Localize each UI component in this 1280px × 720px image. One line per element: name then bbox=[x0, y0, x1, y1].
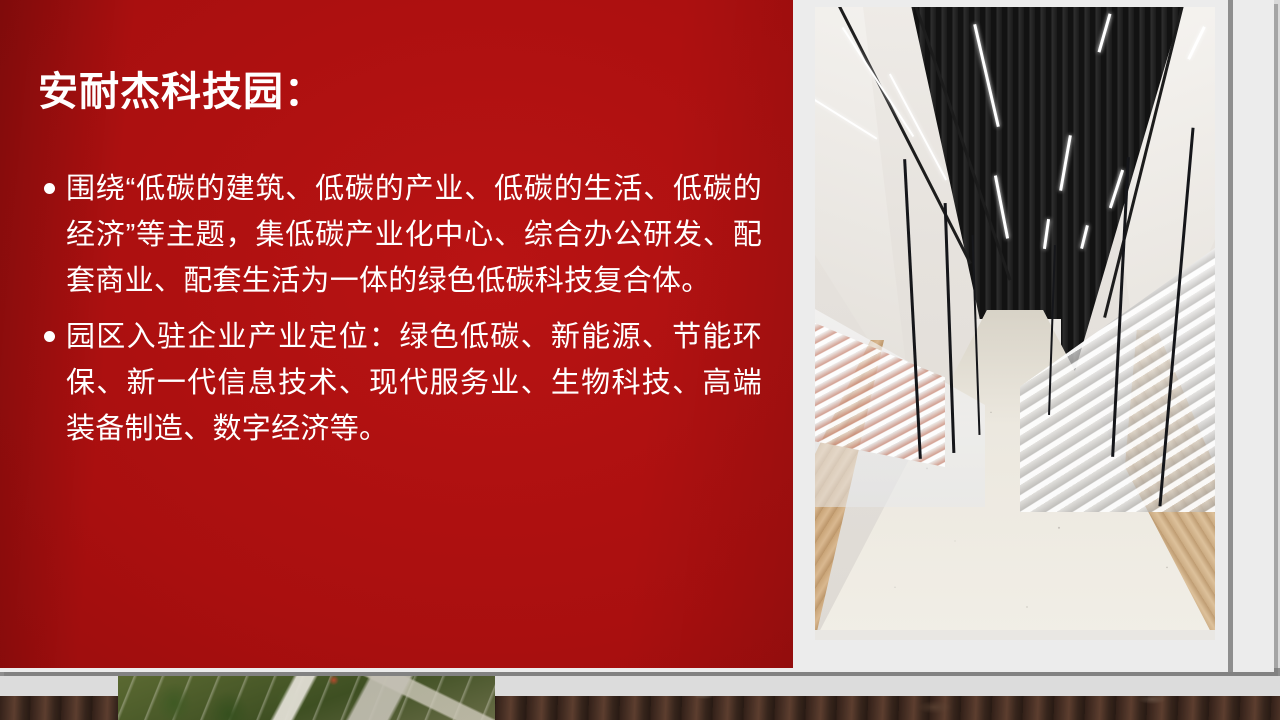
bullet-item-1: 围绕“低碳的建筑、低碳的产业、低碳的生活、低碳的经济”等主题，集低碳产业化中心、… bbox=[36, 166, 762, 304]
bullet-list: 围绕“低碳的建筑、低碳的产业、低碳的生活、低碳的经济”等主题，集低碳产业化中心、… bbox=[36, 166, 762, 452]
bullet-item-2: 园区入驻企业产业定位：绿色低碳、新能源、节能环保、新一代信息技术、现代服务业、生… bbox=[36, 314, 762, 452]
frame-divider-line bbox=[1228, 0, 1233, 672]
bullet-dot-icon bbox=[44, 331, 55, 342]
bullet-item-2-text: 园区入驻企业产业定位：绿色低碳、新能源、节能环保、新一代信息技术、现代服务业、生… bbox=[66, 321, 762, 445]
office-corridor-photo bbox=[815, 7, 1215, 640]
bullet-dot-icon bbox=[44, 183, 55, 194]
red-content-panel: 安耐杰科技园： 围绕“低碳的建筑、低碳的产业、低碳的生活、低碳的经济”等主题，集… bbox=[0, 0, 793, 668]
aerial-site-photo-image bbox=[118, 676, 495, 720]
bullet-item-1-text: 围绕“低碳的建筑、低碳的产业、低碳的生活、低碳的经济”等主题，集低碳产业化中心、… bbox=[66, 173, 762, 297]
aerial-site-photo bbox=[118, 676, 495, 720]
page-title: 安耐杰科技园： bbox=[38, 68, 325, 116]
presentation-slide: 安耐杰科技园： 围绕“低碳的建筑、低碳的产业、低碳的生活、低碳的经济”等主题，集… bbox=[0, 0, 1280, 720]
photo-bottom-sill bbox=[815, 630, 1215, 640]
